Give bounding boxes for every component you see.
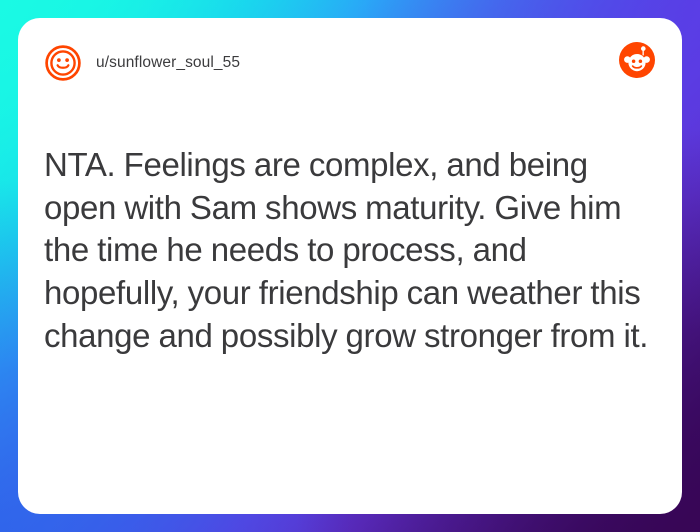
reddit-snoo-icon <box>618 41 656 79</box>
smiley-face-avatar-icon <box>44 44 82 82</box>
gradient-background: u/sunflower_soul_55 NTA. <box>0 0 700 532</box>
reddit-post-card: u/sunflower_soul_55 NTA. <box>18 18 682 514</box>
avatar[interactable] <box>44 44 82 82</box>
username-label: u/sunflower_soul_55 <box>96 54 240 72</box>
post-header: u/sunflower_soul_55 <box>44 40 656 86</box>
post-body-text: NTA. Feelings are complex, and being ope… <box>44 144 656 358</box>
